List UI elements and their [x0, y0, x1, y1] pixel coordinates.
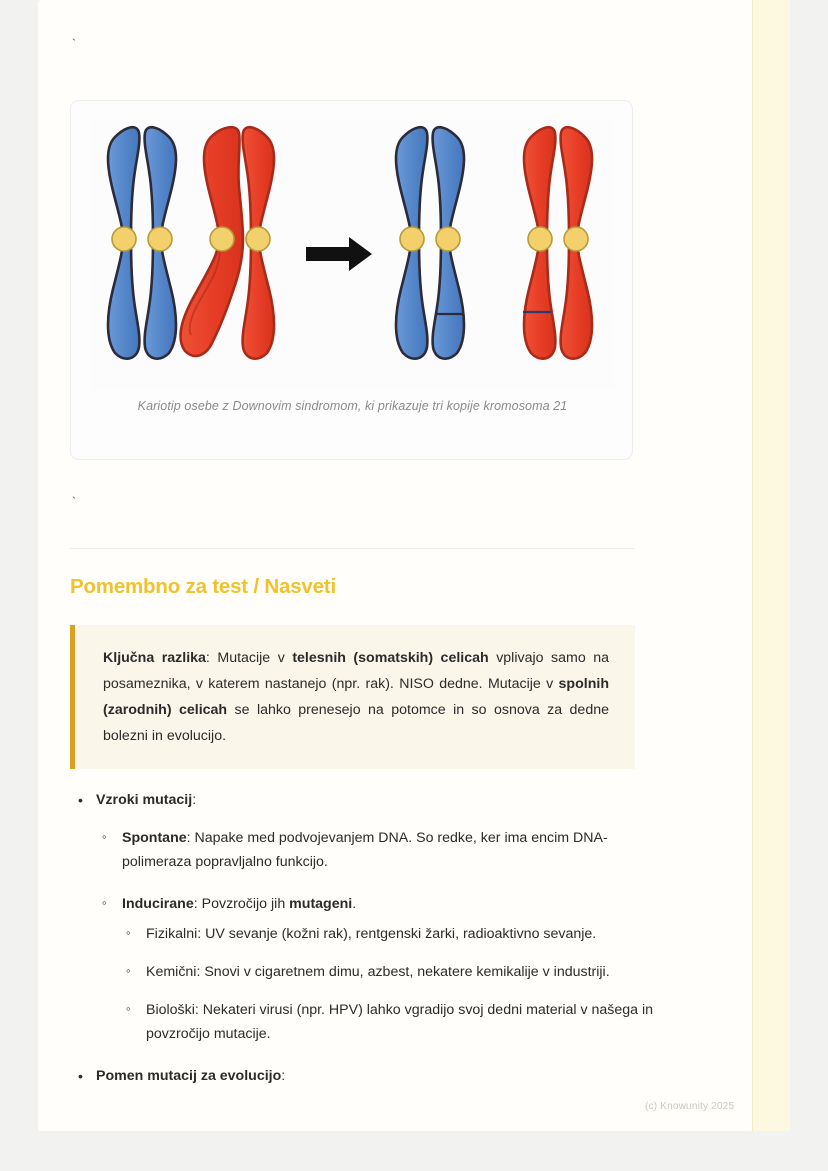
list-level-3: ◦ Fizikalni: UV sevanje (kožni rak), ren… — [122, 922, 670, 1046]
list-item-text: Biološki: Nekateri virusi (npr. HPV) lah… — [146, 1002, 653, 1042]
copyright-watermark: (c) Knowunity 2025 — [645, 1101, 734, 1112]
document-page: ` ` — [38, 0, 790, 1131]
key-difference-callout: Ključna razlika: Mutacije v telesnih (so… — [70, 625, 635, 769]
list-item-text: Spontane: Napake med podvojevanjem DNA. … — [122, 830, 608, 870]
list-item: • Vzroki mutacij: ◦ Spontane: Napake med… — [70, 788, 670, 1046]
list-item-text: Inducirane: Povzročijo jih mutageni. — [122, 896, 356, 912]
code-tick-middle: ` — [70, 496, 78, 509]
bullet-icon: ◦ — [126, 921, 131, 945]
list-level-2: ◦ Spontane: Napake med podvojevanjem DNA… — [96, 826, 670, 1046]
callout-text: Ključna razlika: Mutacije v telesnih (so… — [103, 645, 609, 749]
figure-caption: Kariotip osebe z Downovim sindromom, ki … — [71, 399, 634, 413]
list-item: • Pomen mutacij za evolucijo: — [70, 1064, 670, 1088]
list-item: ◦ Biološki: Nekateri virusi (npr. HPV) l… — [122, 998, 670, 1046]
list-item-text: Kemični: Snovi v cigaretnem dimu, azbest… — [146, 964, 610, 980]
list-item-text: Fizikalni: UV sevanje (kožni rak), rentg… — [146, 926, 596, 942]
bullet-icon: • — [78, 788, 83, 812]
list-item: ◦ Kemični: Snovi v cigaretnem dimu, azbe… — [122, 960, 670, 984]
code-tick-top: ` — [70, 38, 78, 51]
figure-card: Kariotip osebe z Downovim sindromom, ki … — [70, 100, 633, 460]
list-level-1: • Vzroki mutacij: ◦ Spontane: Napake med… — [70, 788, 670, 1088]
list-item: ◦ Spontane: Napake med podvojevanjem DNA… — [96, 826, 670, 874]
list-item: ◦ Fizikalni: UV sevanje (kožni rak), ren… — [122, 922, 670, 946]
bullet-icon: ◦ — [102, 825, 107, 849]
page-title: Pomembno za test / Nasveti — [70, 575, 336, 599]
bullet-icon: ◦ — [126, 959, 131, 983]
chromosome-illustration — [91, 119, 614, 389]
bullet-icon: ◦ — [102, 891, 107, 915]
list-item-text: Pomen mutacij za evolucijo: — [96, 1068, 285, 1084]
chromosome-diagram-svg — [91, 119, 614, 389]
bullet-icon: ◦ — [126, 997, 131, 1021]
causes-list: • Vzroki mutacij: ◦ Spontane: Napake med… — [70, 788, 670, 1102]
list-item-text: Vzroki mutacij: — [96, 792, 196, 808]
bullet-icon: • — [78, 1064, 83, 1088]
page-right-margin-strip — [752, 0, 790, 1131]
section-divider — [70, 548, 635, 549]
list-item: ◦ Inducirane: Povzročijo jih mutageni. ◦… — [96, 892, 670, 1046]
